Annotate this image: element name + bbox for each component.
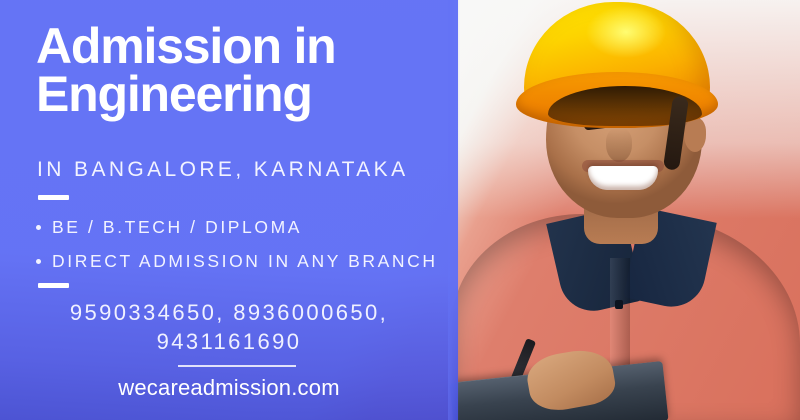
divider-top [38,195,69,200]
shirt-button-upper [615,300,623,309]
location-subtitle: IN BANGALORE, KARNATAKA [37,158,409,182]
phone-line-2: 9431161690 [0,327,458,356]
offer-list: BE / B.TECH / DIPLOMA DIRECT ADMISSION I… [36,210,452,278]
ear [684,118,706,152]
phone-line-1: 9590334650, 8936000650, [0,298,458,327]
contact-phone-numbers: 9590334650, 8936000650, 9431161690 [0,298,458,356]
hard-hat-highlight [586,6,666,58]
divider-thin [178,365,296,367]
divider-bottom [38,283,69,288]
panel-content: Admission in Engineering IN BANGALORE, K… [0,0,458,420]
headline-line-1: Admission in [36,22,450,70]
promotional-banner: Admission in Engineering IN BANGALORE, K… [0,0,800,420]
list-item: BE / B.TECH / DIPLOMA [36,210,452,244]
page-title: Admission in Engineering [36,22,450,118]
smile-teeth [588,166,658,190]
list-item: DIRECT ADMISSION IN ANY BRANCH [36,244,452,278]
headline-line-2: Engineering [36,70,450,118]
nose [606,128,632,162]
website-url[interactable]: wecareadmission.com [0,375,458,401]
